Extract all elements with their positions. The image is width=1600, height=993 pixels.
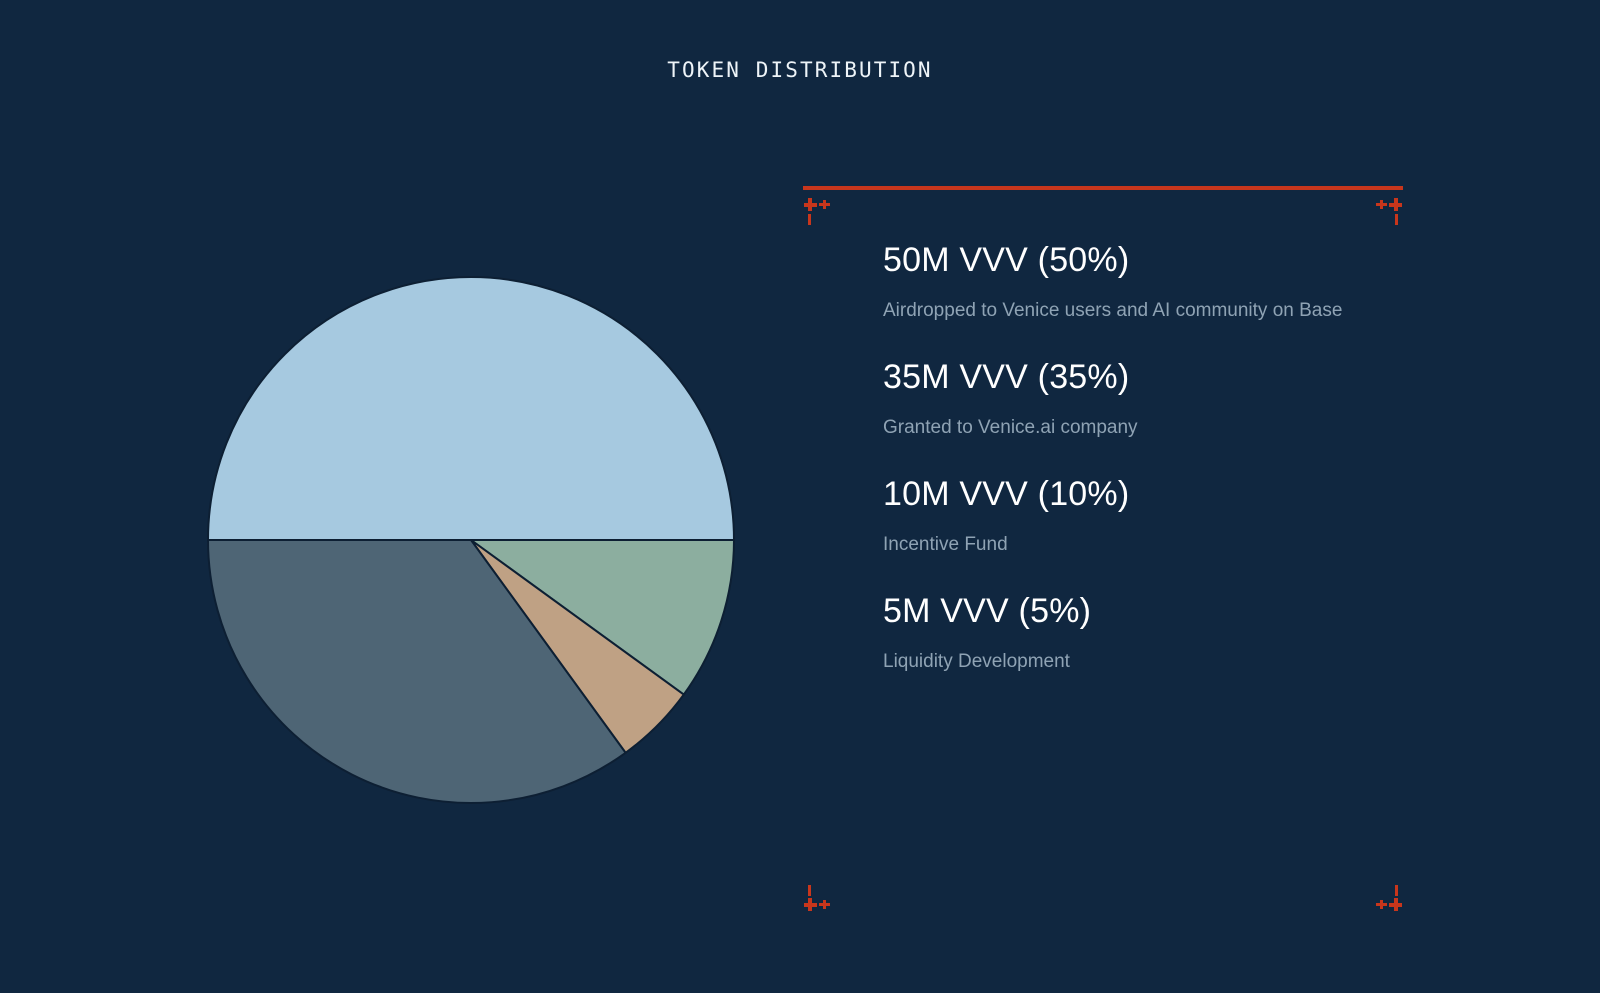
legend-item-amount: 10M VVV (10%) <box>883 475 1403 514</box>
small-plus-vertical <box>823 900 826 909</box>
legend-item-description: Airdropped to Venice users and AI commun… <box>883 298 1343 325</box>
legend-entry-list: 50M VVV (50%) Airdropped to Venice users… <box>883 241 1403 676</box>
corner-marks-top-left <box>804 192 844 224</box>
plus-mark-vertical <box>808 898 812 911</box>
legend-item-amount: 50M VVV (50%) <box>883 241 1403 280</box>
tick-mark-vertical <box>1395 214 1398 225</box>
corner-marks-bottom-right <box>1362 885 1402 917</box>
legend-item-venice-company: 35M VVV (35%) Granted to Venice.ai compa… <box>883 358 1403 442</box>
corner-marks-top-right <box>1362 192 1402 224</box>
legend-item-description: Incentive Fund <box>883 532 1343 559</box>
token-distribution-pie-chart <box>208 277 734 803</box>
decorative-rule-top <box>803 186 1403 190</box>
legend-item-liquidity-development: 5M VVV (5%) Liquidity Development <box>883 592 1403 676</box>
legend-item-airdrop: 50M VVV (50%) Airdropped to Venice users… <box>883 241 1403 325</box>
small-plus-vertical <box>823 200 826 209</box>
legend-item-incentive-fund: 10M VVV (10%) Incentive Fund <box>883 475 1403 559</box>
plus-mark-vertical <box>808 198 812 211</box>
corner-marks-bottom-left <box>804 885 844 917</box>
legend-panel: 50M VVV (50%) Airdropped to Venice users… <box>803 186 1403 923</box>
pie-slice-airdrop <box>208 277 734 540</box>
small-plus-vertical <box>1380 900 1383 909</box>
tick-mark-vertical <box>808 214 811 225</box>
tick-mark-vertical <box>1395 885 1398 896</box>
legend-item-amount: 5M VVV (5%) <box>883 592 1403 631</box>
legend-item-amount: 35M VVV (35%) <box>883 358 1403 397</box>
plus-mark-vertical <box>1394 198 1398 211</box>
legend-item-description: Granted to Venice.ai company <box>883 415 1343 442</box>
small-plus-vertical <box>1380 200 1383 209</box>
tick-mark-vertical <box>808 885 811 896</box>
legend-item-description: Liquidity Development <box>883 649 1343 676</box>
pie-svg <box>208 277 734 803</box>
page-title: TOKEN DISTRIBUTION <box>0 58 1600 82</box>
slide-root: TOKEN DISTRIBUTION <box>0 0 1600 993</box>
plus-mark-vertical <box>1394 898 1398 911</box>
